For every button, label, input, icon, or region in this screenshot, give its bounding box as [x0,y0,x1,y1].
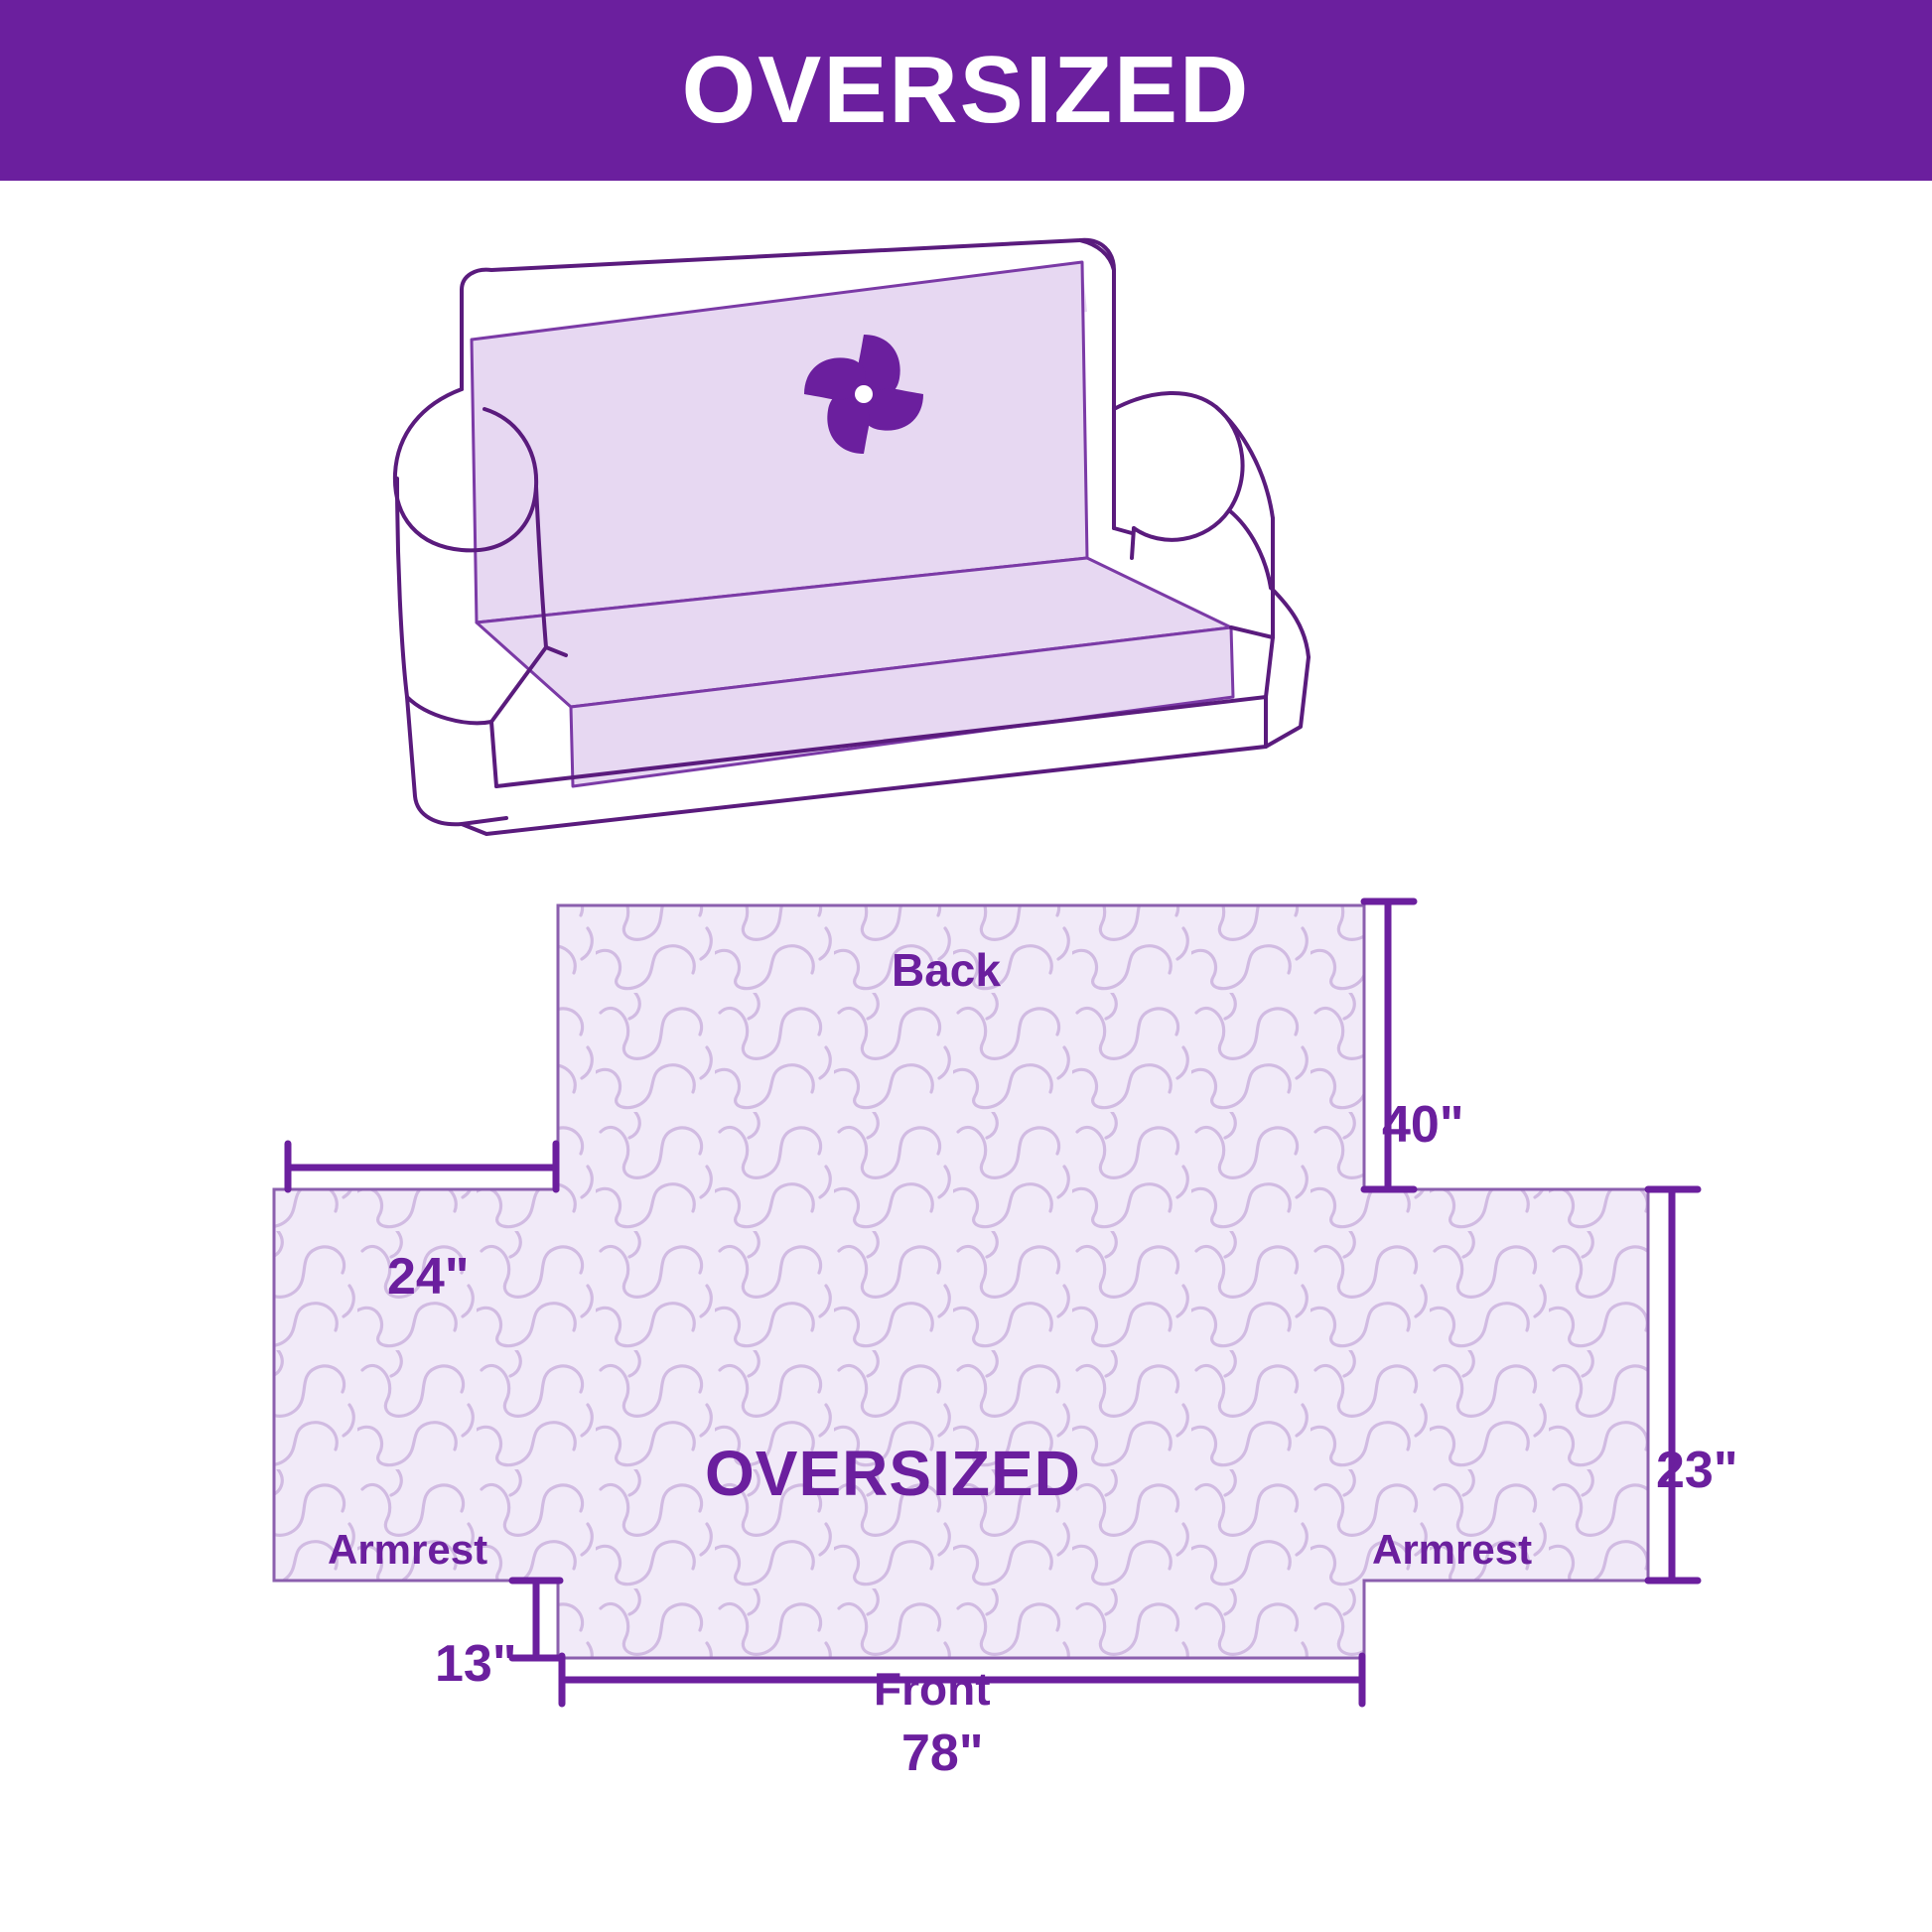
dimension-armrest-left-width: 24" [387,1251,470,1303]
dimension-front-width: 78" [901,1727,984,1779]
label-armrest-left: Armrest [328,1529,487,1571]
sofa-line-drawing [367,230,1559,846]
dimension-armrest-right-height: 23" [1656,1445,1738,1496]
label-back: Back [892,947,1001,993]
label-front: Front [874,1666,991,1712]
label-center-oversized: OVERSIZED [705,1442,1081,1505]
header-banner: OVERSIZED [0,0,1932,181]
dimension-front-drop: 13" [435,1638,517,1690]
sofa-illustration-area [0,181,1932,876]
label-armrest-right: Armrest [1372,1529,1532,1571]
dimension-back-height: 40" [1382,1099,1464,1151]
page-title: OVERSIZED [682,43,1251,138]
